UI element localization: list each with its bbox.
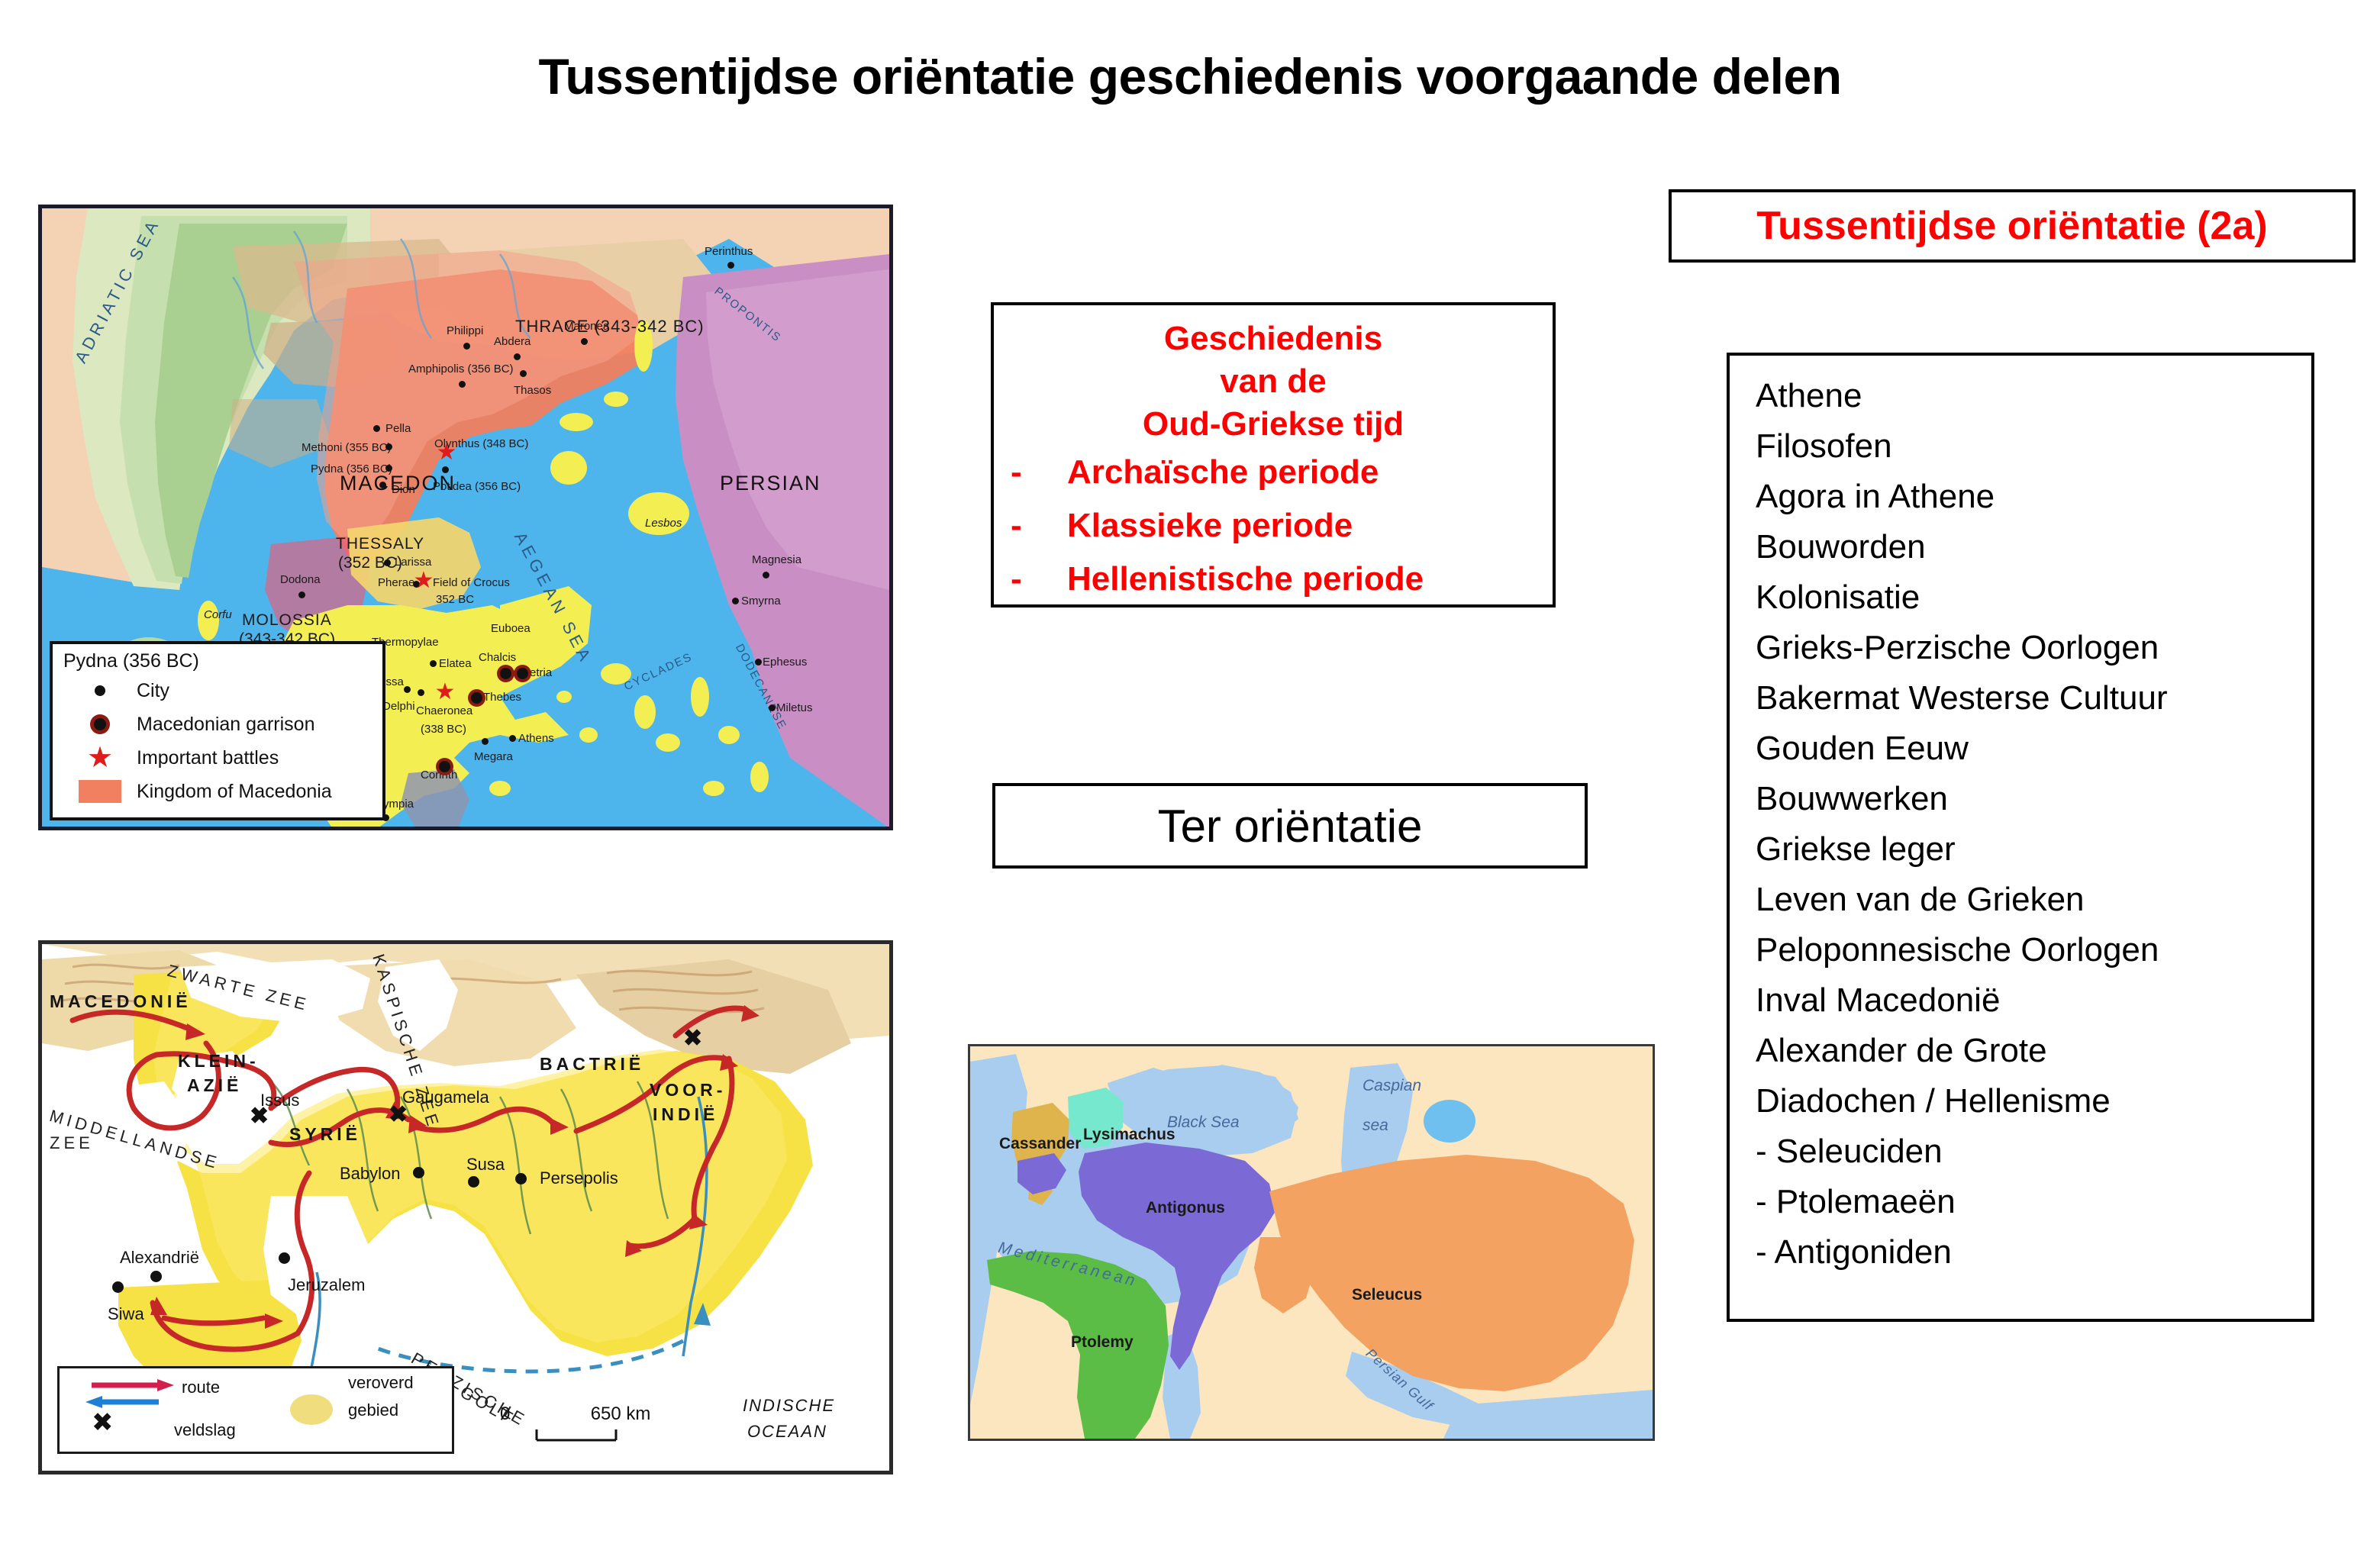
map-sea-label: OCEAAN <box>747 1422 827 1442</box>
map-city-label: Thasos <box>514 384 551 397</box>
list-item: - Seleuciden <box>1756 1126 2311 1177</box>
alexander-map-legend: route veldslag veroverd gebied ✖ <box>57 1366 454 1454</box>
map-sea-label: sea <box>1363 1117 1388 1135</box>
bullet-label: Archaïsche periode <box>1067 446 1379 499</box>
map-region-label: INDIË <box>653 1104 718 1125</box>
list-item: Bouwwerken <box>1756 774 2311 824</box>
list-item: Griekse leger <box>1756 824 2311 875</box>
garrison-marker <box>439 761 450 772</box>
list-item: Bouworden <box>1756 522 2311 572</box>
svg-text:✖: ✖ <box>92 1408 114 1437</box>
list-item: Inval Macedonië <box>1756 975 2311 1026</box>
list-item: Filosofen <box>1756 421 2311 472</box>
battle-cross-icon: ✖ <box>683 1025 702 1052</box>
scale-to: 650 km <box>591 1404 651 1424</box>
map-city-label: Pydna (356 BC) <box>311 462 392 475</box>
map-city-label: Euboea <box>491 622 531 635</box>
map-region-label: AZIË <box>187 1075 242 1096</box>
map-city-label: Perinthus <box>705 245 753 258</box>
bullet-label: Klassieke periode <box>1067 499 1353 553</box>
legend-title: Pydna (356 BC) <box>63 650 382 672</box>
legend-row-city: City <box>63 674 382 707</box>
battle-cross-icon: ✖ <box>389 1101 408 1128</box>
period-bullet-hellenistic: - Hellenistische periode <box>994 553 1553 606</box>
map-ancient-greece: MACEDON THRACE (343-342 BC) THESSALY (35… <box>38 205 893 830</box>
period-bullet-archaic: - Archaïsche periode <box>994 446 1553 499</box>
list-item: Agora in Athene <box>1756 472 2311 522</box>
map-city-label: Field of Crocus <box>433 576 510 589</box>
map-sea-label: ZEE <box>50 1133 94 1153</box>
map-city-label: Magnesia <box>752 553 801 566</box>
city-dot-icon <box>63 685 137 696</box>
map-sea-label: INDISCHE <box>743 1396 835 1416</box>
map-city-label: Chalcis <box>479 651 516 664</box>
list-item: Bakermat Westerse Cultuur <box>1756 673 2311 724</box>
map-city-label: Corfu <box>204 608 232 621</box>
map-region-label: BACTRIË <box>540 1054 644 1075</box>
kingdom-label: Seleucus <box>1352 1286 1422 1304</box>
map-city-label: Miletus <box>776 701 813 714</box>
kingdom-label: Antigonus <box>1146 1199 1225 1217</box>
periods-line: van de <box>994 360 1553 403</box>
map-city-label: Pella <box>385 422 411 435</box>
legend-label: Important battles <box>137 747 279 769</box>
list-item: Leven van de Grieken <box>1756 875 2311 925</box>
periods-line: Geschiedenis <box>994 317 1553 360</box>
map-city-label: Lesbos <box>645 517 682 530</box>
list-item: - Ptolemaeën <box>1756 1177 2311 1227</box>
periods-line: Oud-Griekse tijd <box>994 403 1553 446</box>
legend-row-battles: ★ Important battles <box>63 741 382 775</box>
map-city-label: Philippi <box>447 324 483 337</box>
page-title: Tussentijdse oriëntatie geschiedenis voo… <box>0 47 2380 105</box>
diadochi-map-graphic <box>970 1046 1653 1439</box>
map-city-label: Maronea <box>564 320 609 333</box>
greece-map-legend: Pydna (356 BC) City Macedonian garrison … <box>50 641 385 820</box>
garrison-dot-icon <box>63 718 137 730</box>
legend-label: Macedonian garrison <box>137 714 314 736</box>
garrison-marker <box>517 668 528 679</box>
bullet-dash: - <box>1011 446 1067 499</box>
map-region-label: SYRIË <box>289 1124 361 1145</box>
list-item: Kolonisatie <box>1756 572 2311 623</box>
map-region-label: MOLOSSIA <box>242 611 332 630</box>
map-city-label: Chaeronea <box>416 704 472 717</box>
map-city-label: Smyrna <box>741 595 781 608</box>
map-sea-label: Black Sea <box>1167 1114 1240 1132</box>
map-city-label: Elatea <box>439 657 472 670</box>
map-alexander-campaign: MACEDONIË KLEIN- AZIË SYRIË EGYPTE BACTR… <box>38 940 893 1474</box>
map-region-label: PERSIAN <box>720 472 821 495</box>
ter-orientatie-label: Ter oriëntatie <box>1158 800 1423 852</box>
list-item: Alexander de Grote <box>1756 1026 2311 1076</box>
garrison-marker <box>500 668 511 679</box>
kingdom-label: Lysimachus <box>1083 1126 1175 1144</box>
map-region-label: (352 BC) <box>338 554 402 572</box>
map-sea-label: Caspian <box>1363 1077 1421 1095</box>
list-item: - Antigoniden <box>1756 1227 2311 1278</box>
battle-cross-icon: ✖ <box>250 1103 269 1130</box>
map-region-label: THRACE (343-342 BC) <box>515 317 705 337</box>
map-city-label: Gaugamela <box>402 1088 489 1107</box>
map-city-label: Larissa <box>395 556 431 569</box>
map-region-label: MACEDONIË <box>50 991 192 1012</box>
map-city-label: Dion <box>392 483 415 496</box>
bullet-dash: - <box>1011 553 1067 606</box>
legend-row-garrison: Macedonian garrison <box>63 707 382 741</box>
map-city-label: Babylon <box>340 1164 401 1184</box>
scale-from: 0 <box>500 1404 510 1424</box>
period-bullet-classical: - Klassieke periode <box>994 499 1553 553</box>
map-region-label: VOOR- <box>650 1080 726 1101</box>
list-item: Grieks-Perzische Oorlogen <box>1756 623 2311 673</box>
list-item: Peloponnesische Oorlogen <box>1756 925 2311 975</box>
kingdom-swatch-icon <box>63 780 137 803</box>
garrison-marker <box>471 692 482 704</box>
kingdom-label: Ptolemy <box>1071 1333 1134 1352</box>
orientation-header-box: Tussentijdse oriëntatie (2a) <box>1669 189 2356 263</box>
map-city-label: Potidea (356 BC) <box>433 480 521 493</box>
map-city-label: Corinth <box>421 769 457 782</box>
map-city-label: Susa <box>466 1155 505 1175</box>
periods-box: Geschiedenis van de Oud-Griekse tijd - A… <box>991 302 1556 608</box>
map-city-label: 352 BC <box>436 593 474 606</box>
legend-row-kingdom: Kingdom of Macedonia <box>63 775 382 808</box>
map-city-label: Siwa <box>108 1304 144 1324</box>
battle-star-icon: ★ <box>63 743 137 772</box>
map-city-label: Thebes <box>483 691 521 704</box>
map-city-label: Ephesus <box>763 656 807 669</box>
map-scale-bar: 0 650 km <box>500 1404 650 1425</box>
bullet-dash: - <box>1011 499 1067 553</box>
slide-root: Tussentijdse oriëntatie geschiedenis voo… <box>0 0 2380 1547</box>
topic-list-box: Athene Filosofen Agora in Athene Bouword… <box>1727 353 2314 1322</box>
list-item: Diadochen / Hellenisme <box>1756 1076 2311 1126</box>
map-city-label: Persepolis <box>540 1168 618 1188</box>
orientation-header-label: Tussentijdse oriëntatie (2a) <box>1756 203 2267 249</box>
map-region-label: THESSALY <box>336 535 424 553</box>
map-city-label: Pherae <box>378 576 414 589</box>
bullet-label: Hellenistische periode <box>1067 553 1424 606</box>
map-city-label: Abdera <box>494 335 531 348</box>
map-city-label: Jeruzalem <box>288 1275 365 1295</box>
kingdom-label: Cassander <box>999 1135 1081 1153</box>
legend-label: City <box>137 680 169 702</box>
list-item: Athene <box>1756 371 2311 421</box>
map-city-label: Methoni (355 BC) <box>302 441 392 454</box>
map-city-label: Megara <box>474 750 513 763</box>
map-region-label: KLEIN- <box>178 1051 260 1072</box>
map-city-label: Dodona <box>280 573 321 586</box>
legend-label: Kingdom of Macedonia <box>137 781 332 803</box>
map-city-label: (338 BC) <box>421 723 466 736</box>
list-item: Gouden Eeuw <box>1756 724 2311 774</box>
ter-orientatie-box: Ter oriëntatie <box>992 783 1588 869</box>
legend-symbols: ✖ <box>60 1368 453 1453</box>
map-diadochi-kingdoms: Cassander Lysimachus Antigonus Ptolemy S… <box>968 1044 1655 1441</box>
map-city-label: Athens <box>518 732 554 745</box>
map-city-label: Amphipolis (356 BC) <box>408 363 514 375</box>
map-city-label: Delphi <box>382 700 415 713</box>
map-city-label: Alexandrië <box>120 1248 199 1268</box>
